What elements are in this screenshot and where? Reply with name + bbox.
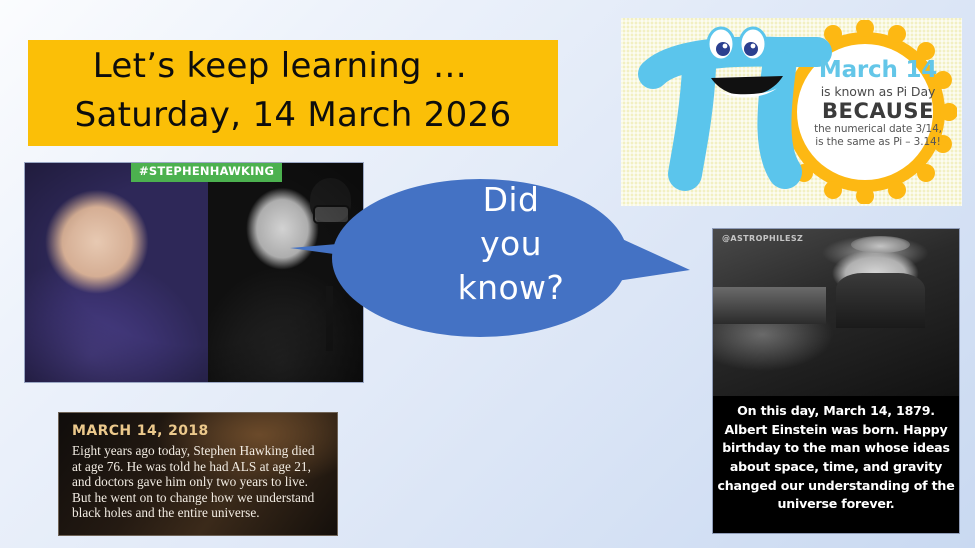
- pi-day-detail-line-2: is the same as Pi – 3.14!: [803, 137, 953, 148]
- card-date-heading: MARCH 14, 2018: [72, 423, 325, 439]
- bubble-line-1: Did: [413, 178, 609, 222]
- albert-einstein-photo: @ASTROPHILESZ On this day, March 14, 187…: [712, 228, 960, 534]
- did-you-know-speech-bubble: Did you know?: [280, 170, 700, 345]
- title-line-2: Saturday, 14 March 2026: [75, 91, 512, 140]
- watermark-handle: @ASTROPHILESZ: [722, 234, 803, 243]
- pi-day-known-as-line: is known as Pi Day: [803, 85, 953, 98]
- card-body-text: Eight years ago today, Stephen Hawking d…: [72, 443, 325, 521]
- bubble-line-2: you: [413, 222, 609, 266]
- pi-day-because-label: BECAUSE: [803, 100, 953, 122]
- title-banner: Let’s keep learning … Saturday, 14 March…: [28, 40, 558, 146]
- desk: [713, 287, 826, 324]
- einstein-hair: [851, 236, 910, 253]
- pi-day-text-block: March 14 is known as Pi Day BECAUSE the …: [803, 58, 953, 148]
- einstein-portrait: [713, 229, 959, 399]
- bubble-line-3: know?: [413, 266, 609, 310]
- presentation-slide: Let’s keep learning … Saturday, 14 March…: [0, 0, 975, 548]
- hawking-memorial-card: MARCH 14, 2018 Eight years ago today, St…: [58, 412, 338, 536]
- einstein-caption-text: On this day, March 14, 1879. Albert Eins…: [713, 396, 959, 522]
- hashtag-badge: #STEPHENHAWKING: [131, 163, 282, 182]
- speech-bubble-text: Did you know?: [413, 178, 609, 310]
- title-line-1: Let’s keep learning …: [93, 42, 493, 91]
- pi-day-march-label: March 14: [803, 58, 953, 82]
- pi-day-detail-line-1: the numerical date 3/14,: [803, 124, 953, 135]
- einstein-torso: [836, 273, 925, 327]
